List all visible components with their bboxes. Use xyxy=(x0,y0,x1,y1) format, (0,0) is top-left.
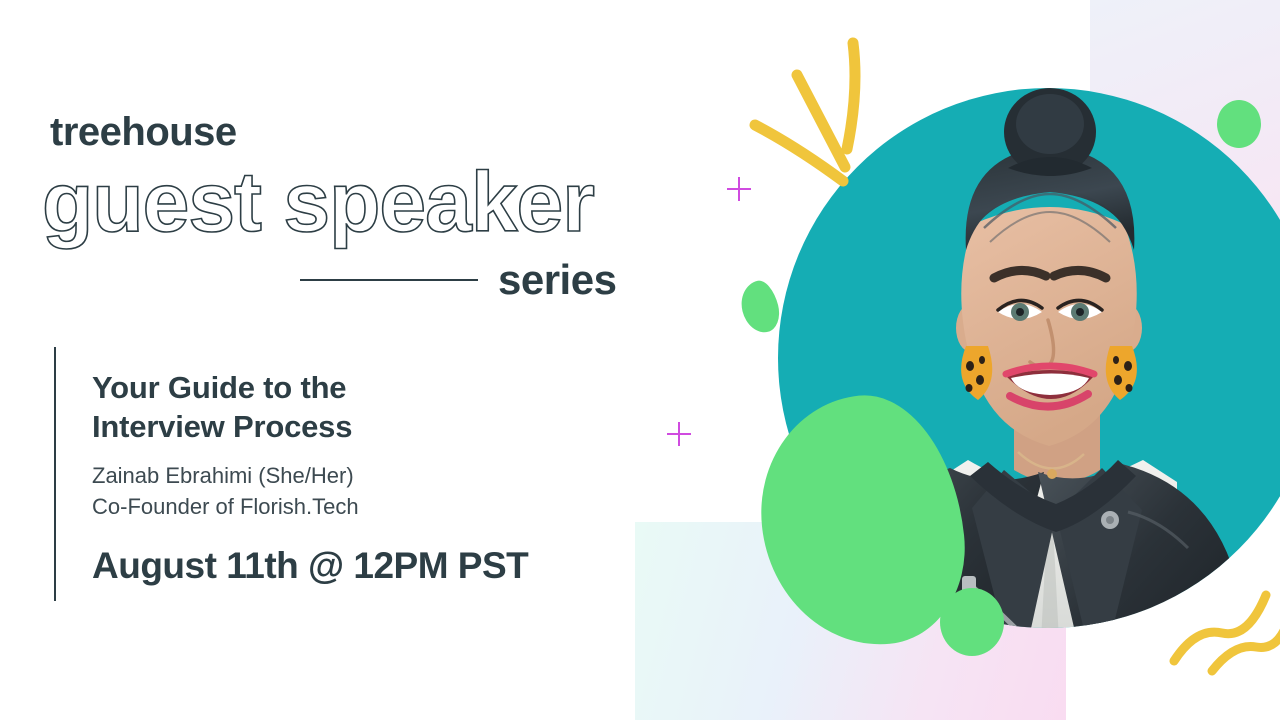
series-divider-rule xyxy=(300,279,478,281)
talk-title-line-2: Interview Process xyxy=(92,407,612,446)
series-label: series xyxy=(498,256,616,304)
magenta-plus-icon xyxy=(727,177,751,201)
brand-wordmark: treehouse xyxy=(50,110,237,155)
yellow-squiggle-strokes xyxy=(1160,585,1280,695)
yellow-ray-strokes xyxy=(735,25,915,215)
event-date-time: August 11th @ 12PM PST xyxy=(92,545,612,587)
speaker-role: Co-Founder of Florish.Tech xyxy=(92,491,612,522)
magenta-plus-icon xyxy=(667,422,691,446)
text-column: treehouse guest speaker series Your Guid… xyxy=(0,0,660,720)
green-blob-dot xyxy=(940,588,1004,656)
vertical-accent-rule xyxy=(54,347,56,601)
talk-details: Your Guide to the Interview Process Zain… xyxy=(92,368,612,587)
series-row: series xyxy=(300,252,630,308)
headline-guest-speaker: guest speaker xyxy=(42,160,594,244)
promo-banner: treehouse guest speaker series Your Guid… xyxy=(0,0,1280,720)
speaker-name: Zainab Ebrahimi (She/Her) xyxy=(92,460,612,491)
talk-title-line-1: Your Guide to the xyxy=(92,368,612,407)
